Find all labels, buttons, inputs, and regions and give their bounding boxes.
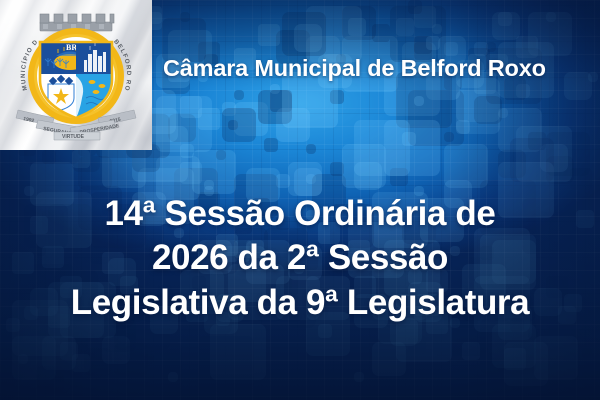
page-title: Câmara Municipal de Belford Roxo (163, 56, 593, 82)
motto-bottom-text: VIRTUDE (62, 134, 85, 140)
session-title-line-2: 2026 da 2ª Sessão (6, 236, 594, 280)
session-title-line-3: Legislativa da 9ª Legislatura (6, 281, 594, 325)
session-title-line-1: 14ª Sessão Ordinária de (6, 192, 594, 236)
flag-image: MUNICÍPIO DE BELFORD ROXO (0, 0, 152, 150)
coat-of-arms-icon: MUNICÍPIO DE BELFORD ROXO (10, 6, 142, 146)
year-left-text: 1992 (23, 116, 35, 124)
monogram-text: BR (66, 43, 77, 52)
session-banner: MUNICÍPIO DE BELFORD ROXO (0, 0, 600, 400)
session-title: 14ª Sessão Ordinária de 2026 da 2ª Sessã… (0, 192, 600, 325)
